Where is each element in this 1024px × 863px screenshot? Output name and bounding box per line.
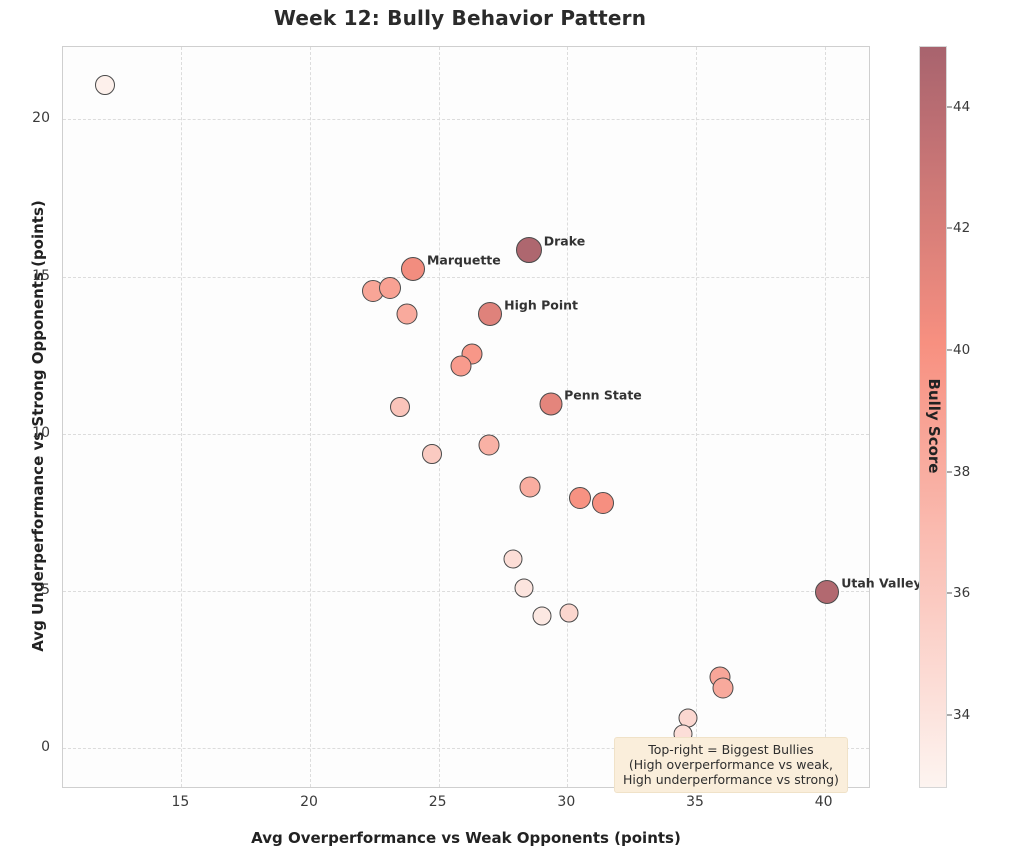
colorbar-tick-mark [947,228,952,229]
x-tick-label: 20 [300,794,318,810]
colorbar-tick-label: 34 [953,707,970,723]
data-point[interactable] [422,444,442,464]
x-axis-label: Avg Overperformance vs Weak Opponents (p… [62,829,870,847]
data-point-label: Marquette [427,252,501,267]
data-point[interactable] [504,550,523,569]
data-point[interactable] [520,477,541,498]
data-point-label: High Point [504,298,578,313]
x-tick-label: 40 [815,794,833,810]
colorbar-tick-label: 36 [953,585,970,601]
data-point[interactable] [569,487,591,509]
colorbar-label: Bully Score [925,55,943,797]
data-point-label: Drake [544,233,585,248]
data-point[interactable] [539,392,562,415]
data-point[interactable] [390,397,410,417]
colorbar-tick-label: 44 [953,99,970,115]
data-point[interactable] [396,304,417,325]
data-point[interactable] [532,607,551,626]
data-point-label: Utah Valley [841,576,921,591]
data-point[interactable] [401,257,425,281]
data-point[interactable] [450,356,471,377]
data-point[interactable] [95,75,115,95]
colorbar-tick-label: 42 [953,220,970,236]
x-tick-label: 25 [429,794,447,810]
colorbar-tick-mark [947,350,952,351]
colorbar-tick-mark [947,715,952,716]
data-point[interactable] [516,237,542,263]
data-point[interactable] [478,434,499,455]
data-point[interactable] [478,302,502,326]
data-points-layer: DrakeMarquetteHigh PointPenn StateUtah V… [63,47,869,787]
colorbar-tick-label: 40 [953,342,970,358]
x-tick-label: 30 [557,794,575,810]
data-point[interactable] [379,277,401,299]
data-point[interactable] [713,678,734,699]
colorbar-tick-mark [947,593,952,594]
x-tick-label: 15 [171,794,189,810]
plot-area: DrakeMarquetteHigh PointPenn StateUtah V… [62,46,870,788]
data-point-label: Penn State [564,387,642,402]
data-point[interactable] [815,580,839,604]
colorbar-tick-mark [947,471,952,472]
data-point[interactable] [592,492,614,514]
page-title: Week 12: Bully Behavior Pattern [0,6,920,30]
colorbar-tick-label: 38 [953,464,970,480]
colorbar-tick-mark [947,106,952,107]
data-point[interactable] [559,603,578,622]
scatter-plot-figure: Week 12: Bully Behavior Pattern DrakeMar… [0,0,1024,863]
x-tick-label: 35 [686,794,704,810]
data-point[interactable] [514,578,533,597]
annotation-note: Top-right = Biggest Bullies (High overpe… [614,737,848,793]
